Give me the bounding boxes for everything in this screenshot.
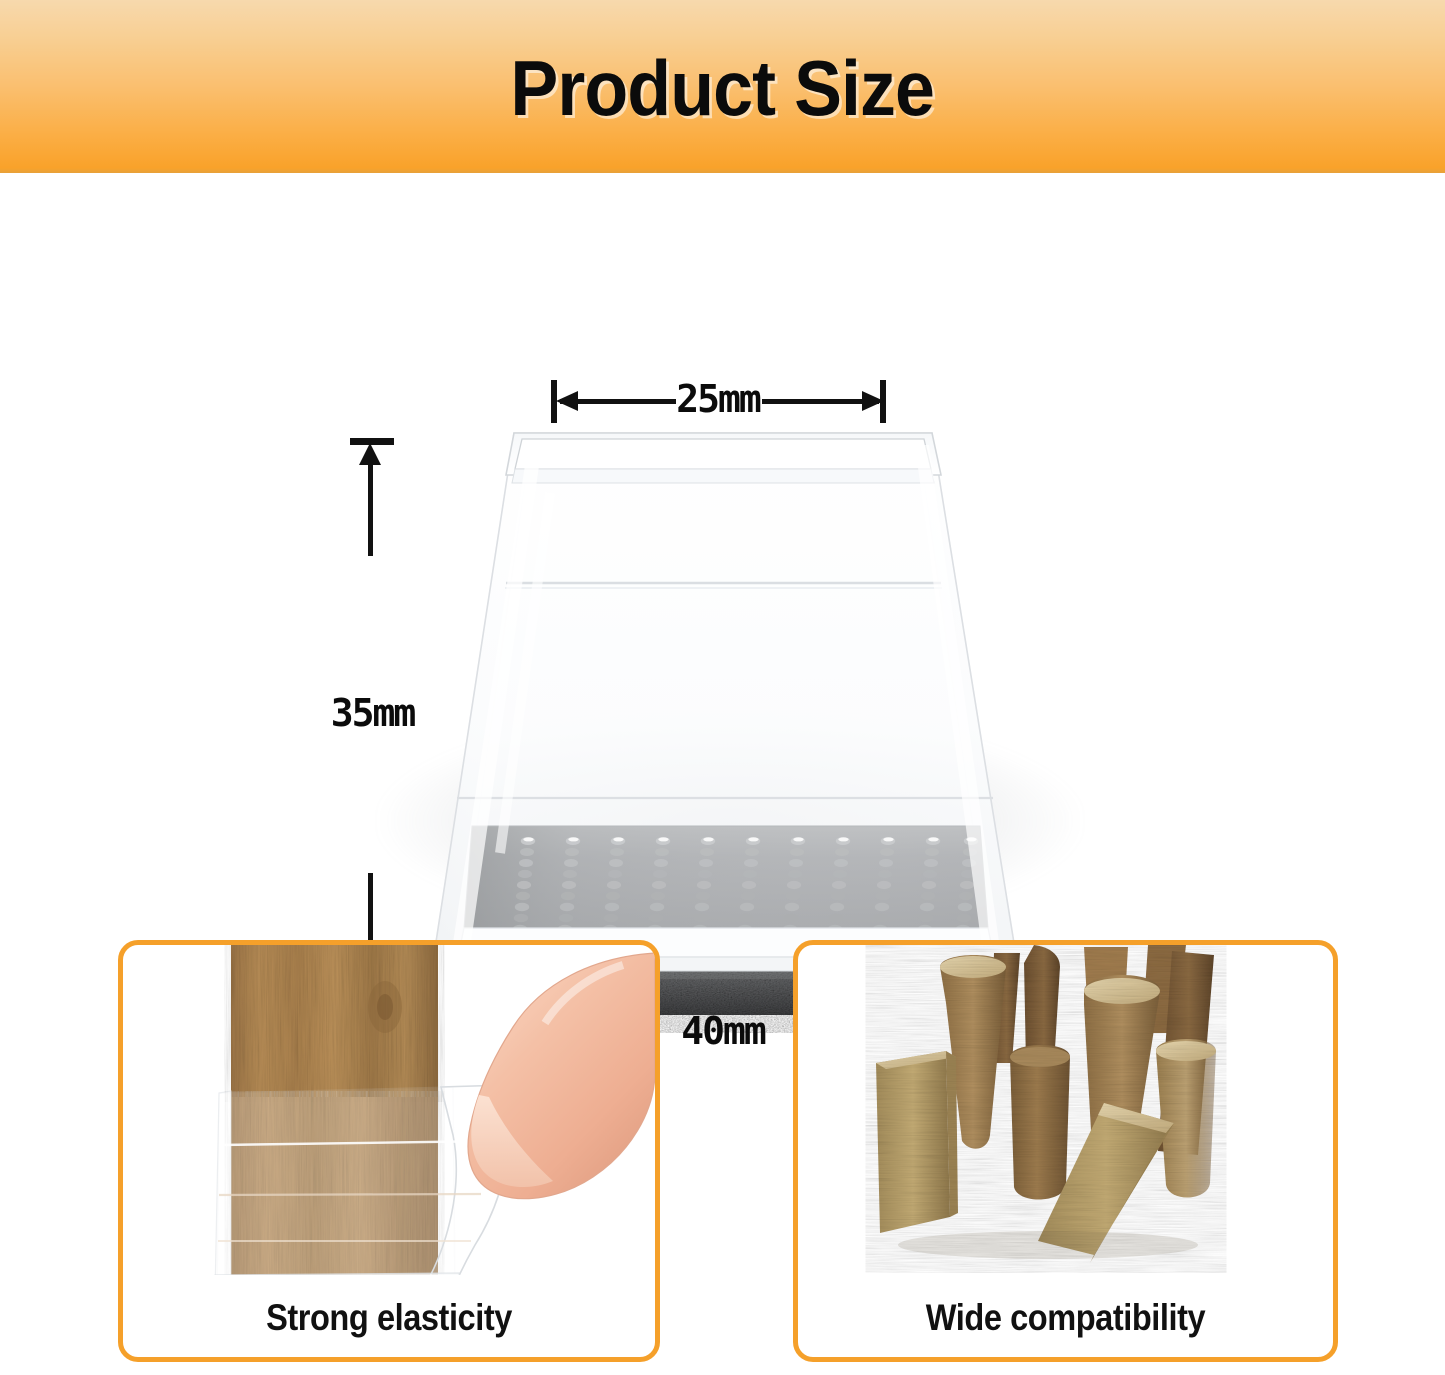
wooden-legs-group xyxy=(876,945,1216,1263)
leg-square-left xyxy=(876,1051,950,1233)
product-diagram-area: 25mm 35mm 40mm xyxy=(0,173,1445,930)
legs-shadow xyxy=(898,1231,1198,1259)
leg-top-face xyxy=(1156,1041,1216,1061)
header-banner: Product Size xyxy=(0,0,1445,173)
dimension-label-width-bottom: 40mm xyxy=(668,1009,778,1053)
leg-top-face xyxy=(1084,978,1160,1004)
finger xyxy=(468,953,655,1199)
dimension-label-width-top: 25mm xyxy=(668,377,768,421)
leg-top-face xyxy=(940,956,1006,978)
arrow-up-icon xyxy=(359,443,381,465)
page-title: Product Size xyxy=(511,49,935,127)
elasticity-svg xyxy=(123,945,655,1275)
feature-card-strong-elasticity: Strong elasticity xyxy=(118,940,660,1362)
product-size-infographic: Product Size xyxy=(0,0,1445,1375)
dimension-label-height-left: 35mm xyxy=(305,691,440,735)
leg-round-center xyxy=(1010,1045,1070,1200)
arrow-left-icon xyxy=(556,391,578,411)
leg-top-face xyxy=(1010,1047,1070,1067)
photo-assorted-wooden-legs xyxy=(798,945,1333,1275)
leg-cone-right xyxy=(1156,1039,1216,1198)
photo-finger-stretching-cover xyxy=(123,945,655,1275)
feature-card-wide-compatibility: Wide compatibility xyxy=(793,940,1338,1362)
card-caption-strong-elasticity: Strong elasticity xyxy=(155,1297,623,1339)
compatibility-svg xyxy=(798,945,1333,1275)
shell-top-rim xyxy=(506,433,941,483)
dimension-bar-top xyxy=(368,456,373,556)
arrow-right-icon xyxy=(862,391,884,411)
clear-cover xyxy=(211,1085,509,1275)
card-caption-wide-compatibility: Wide compatibility xyxy=(830,1297,1301,1339)
